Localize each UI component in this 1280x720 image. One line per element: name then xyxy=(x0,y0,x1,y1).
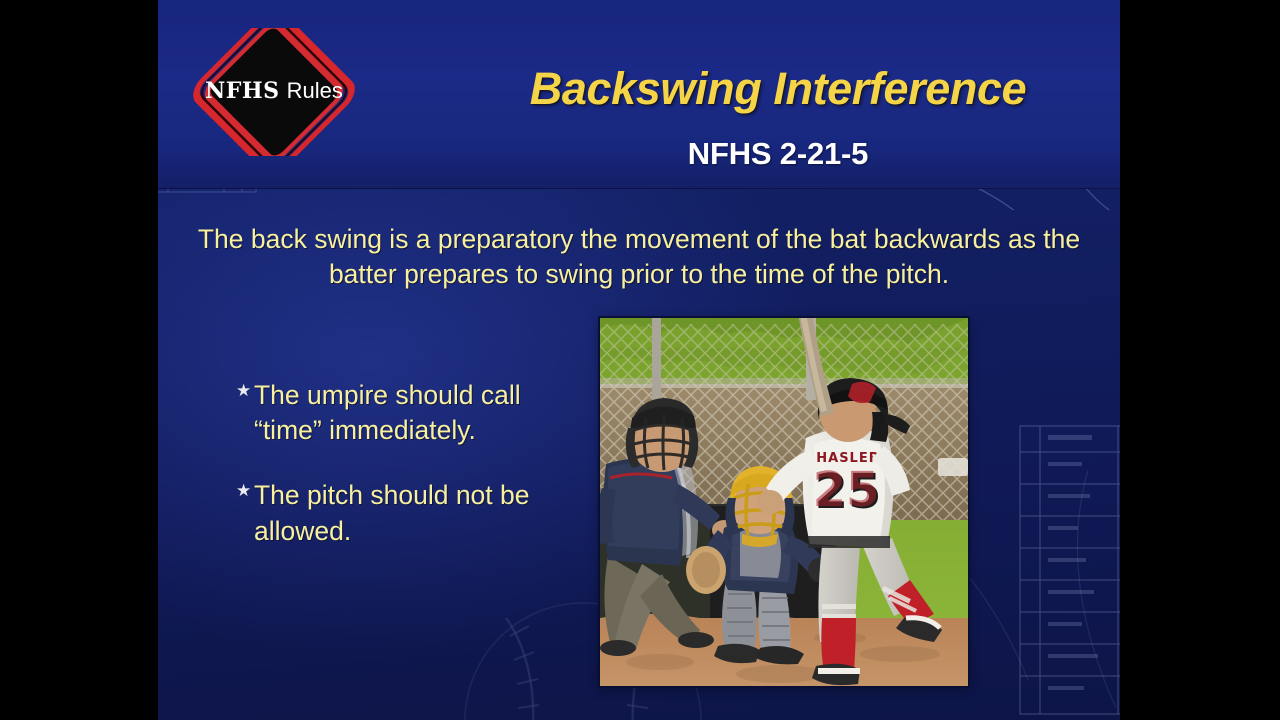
star-bullet-icon: ★ xyxy=(236,481,254,501)
slide-subtitle-rule-reference: NFHS 2-21-5 xyxy=(458,136,1098,172)
presentation-slide: NFHS Rules Backswing Interference NFHS 2… xyxy=(158,0,1120,720)
list-item-line-2: “time” immediately. xyxy=(254,413,606,448)
list-item: ★ The pitch should not be allowed. xyxy=(236,478,606,548)
slide-viewer: NFHS Rules Backswing Interference NFHS 2… xyxy=(0,0,1280,720)
star-bullet-icon: ★ xyxy=(236,381,254,401)
list-item-line-1: The umpire should call xyxy=(254,380,521,410)
letterbox-bar-right xyxy=(1120,0,1280,720)
letterbox-bar-left xyxy=(0,0,158,720)
baseball-play-photo: HASLER 25 25 xyxy=(600,318,968,686)
diamond-logo-icon xyxy=(180,28,368,156)
definition-paragraph: The back swing is a preparatory the move… xyxy=(174,222,1104,292)
list-item-line-1: The pitch should not be xyxy=(254,480,530,510)
bullet-list: ★ The umpire should call “time” immediat… xyxy=(236,378,606,579)
list-item-line-2: allowed. xyxy=(254,514,606,549)
nfhs-rules-logo: NFHS Rules xyxy=(180,28,368,156)
svg-text:25: 25 xyxy=(813,462,880,518)
list-item: ★ The umpire should call “time” immediat… xyxy=(236,378,606,448)
list-item-text: The pitch should not be allowed. xyxy=(236,478,606,548)
scorecard-watermark-right-icon xyxy=(1006,418,1120,718)
list-item-text: The umpire should call “time” immediatel… xyxy=(236,378,606,448)
slide-title: Backswing Interference xyxy=(458,66,1098,111)
